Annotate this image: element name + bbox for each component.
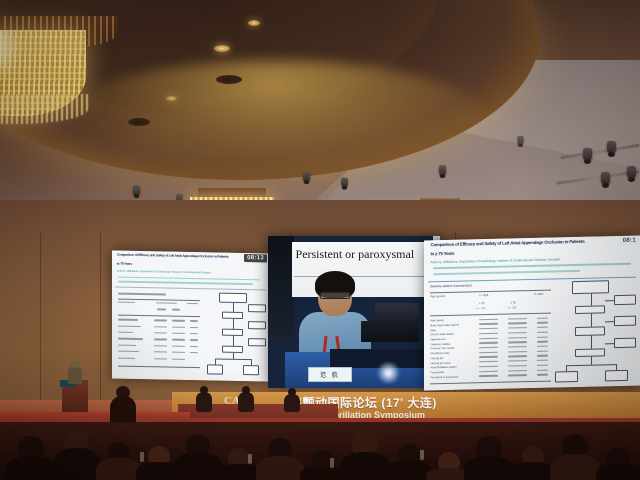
- slide-overlay-title: Persistent or paroxysmal: [296, 247, 440, 262]
- table-col-header: ≥ 75: [510, 301, 515, 305]
- audience-shoulders: [54, 448, 100, 480]
- table-row-label: HAS-BLED score: [430, 362, 450, 365]
- table-cell-value: [508, 374, 527, 376]
- downlight-icon: [214, 45, 230, 52]
- spotlight-icon: [303, 171, 310, 181]
- audience-shoulders: [340, 452, 390, 480]
- center-video-screen[interactable]: Persistent or paroxysmal 范 航: [268, 236, 440, 388]
- table-cell-value: [537, 341, 548, 343]
- wall-panel-seam: [40, 232, 41, 407]
- table-cell-value: [508, 351, 527, 353]
- water-bottle: [140, 452, 144, 462]
- table-cell-value: [537, 336, 548, 338]
- panelist-seated: [238, 392, 254, 412]
- table-col-header: < 75: [479, 301, 485, 305]
- table-cell-value: [479, 347, 498, 349]
- downlight-icon: [216, 75, 242, 84]
- moderator-figure: [68, 366, 82, 384]
- slide-canvas-left: Comparison of Efficacy and Safety of Lef…: [112, 250, 269, 381]
- panelist-seated: [196, 392, 212, 412]
- table-cell-value: [537, 374, 548, 376]
- table-row-label: Hypertension: [430, 338, 445, 341]
- table-cell-value: [537, 317, 548, 319]
- left-projection-screen[interactable]: Comparison of Efficacy and Safety of Lef…: [112, 250, 269, 381]
- wall-panel-seam: [100, 232, 101, 407]
- panelist-seated: [284, 394, 300, 412]
- table-row-label: Male: [430, 329, 436, 332]
- audience-area: [0, 422, 640, 480]
- speaker-nameplate: 范 航: [308, 367, 353, 382]
- table-cell-value: [508, 360, 527, 362]
- table-row-label: Age (years): [430, 319, 443, 322]
- screen-clock: 08:1: [620, 237, 639, 245]
- table-row-label: Chronic heart failure: [430, 333, 453, 337]
- audience-shoulders: [596, 464, 640, 480]
- table-row-label: Body mass index (kg/m²): [430, 324, 459, 328]
- table-cell-value: [479, 370, 498, 372]
- spotlight-icon: [133, 185, 140, 195]
- video-dark-region: [268, 236, 294, 342]
- water-bottle: [248, 454, 252, 464]
- table-cell-value: [479, 375, 498, 377]
- table-col-subheader: n = 706: [476, 307, 485, 310]
- table-cell-value: [508, 332, 527, 334]
- table-cell-value: [537, 350, 548, 352]
- spotlight-icon: [341, 178, 348, 188]
- chandelier-main: [0, 0, 118, 114]
- event-logo: [375, 361, 403, 385]
- table-cell-value: [537, 331, 548, 333]
- table-cell-value: [479, 337, 498, 339]
- table-cell-value: [537, 369, 548, 371]
- table-cell-value: [537, 327, 548, 329]
- table-cell-value: [537, 360, 548, 362]
- spotlight-icon: [607, 141, 616, 154]
- table-cell-value: [537, 346, 548, 348]
- table-col-header: n = 929: [479, 293, 488, 297]
- table-cell-value: [479, 342, 498, 344]
- spotlight-icon: [439, 165, 446, 175]
- water-bottle: [420, 450, 424, 460]
- table-cell-value: [479, 333, 498, 335]
- downlight-icon: [166, 96, 177, 101]
- screen-clock: 08:13: [244, 254, 267, 262]
- audience-shoulders: [550, 454, 600, 480]
- table-row-label: Atrial fibrillation pattern: [430, 366, 456, 370]
- table-cell-value: [537, 364, 548, 366]
- table-cell-value: [537, 322, 548, 324]
- table-row-label: HAS-BLED: [430, 357, 443, 360]
- table-cell-value: [508, 327, 527, 329]
- slide-author-line: [433, 270, 580, 275]
- spotlight-icon: [517, 136, 523, 145]
- table-col-header: Age (years): [430, 294, 444, 298]
- table-row-label: Previous TIA / stroke: [430, 347, 454, 351]
- table-cell-value: [508, 346, 527, 348]
- table-cell-value: [479, 318, 498, 320]
- downlight-icon: [128, 118, 150, 126]
- glasses-icon: [320, 292, 350, 299]
- slide-table: [118, 293, 200, 374]
- table-cell-value: [508, 370, 527, 372]
- laptop: [361, 321, 419, 342]
- slide-title: Comparison of Efficacy and Safety of Lef…: [117, 253, 265, 260]
- table-cell-value: [508, 322, 527, 324]
- slide-subtitle: to 75 Years: [117, 262, 265, 269]
- slide-table: Baseline patient characteristics Age (ye…: [430, 284, 551, 386]
- table-caption: Baseline patient characteristics: [430, 283, 471, 288]
- table-row-label: Paroxysmal: [430, 371, 444, 374]
- table-col-header: P value: [534, 292, 543, 296]
- table-row-label: Diabetes mellitus: [430, 343, 450, 346]
- table-cell-value: [479, 356, 498, 358]
- table-col-subheader: n = 223: [508, 307, 517, 310]
- slide-flowchart: [558, 279, 636, 383]
- audience-shoulders: [6, 456, 58, 480]
- audience-shoulders: [256, 456, 304, 480]
- slide-author-line: [118, 281, 253, 285]
- table-row-label: CHA2DS2-VASc: [430, 352, 449, 355]
- conference-hall-photo: Comparison of Efficacy and Safety of Lef…: [0, 0, 640, 480]
- slide-authors: Authors, Affiliations, Department of Car…: [117, 270, 265, 276]
- slide-flowchart: [206, 292, 266, 378]
- cove-light-glow: [60, 60, 490, 180]
- slide-canvas-right: Comparison of Efficacy and Safety of Lef…: [424, 236, 640, 391]
- table-cell-value: [479, 366, 498, 368]
- live-video-feed: Persistent or paroxysmal 范 航: [268, 236, 440, 388]
- table-cell-value: [479, 323, 498, 325]
- table-cell-value: [479, 351, 498, 353]
- table-cell-value: [508, 341, 527, 343]
- table-row-label: Persistent or permanent: [430, 376, 458, 380]
- spotlight-icon: [627, 166, 636, 179]
- table-cell-value: [508, 318, 527, 320]
- audience-shoulders: [464, 456, 514, 480]
- water-bottle: [330, 458, 334, 468]
- table-cell-value: [508, 365, 527, 367]
- right-projection-screen[interactable]: Comparison of Efficacy and Safety of Lef…: [424, 236, 640, 391]
- table-cell-value: [508, 356, 527, 358]
- table-cell-value: [479, 361, 498, 363]
- downlight-icon: [248, 20, 260, 26]
- spotlight-icon: [601, 172, 610, 185]
- slide-author-line: [118, 276, 259, 280]
- table-cell-value: [479, 328, 498, 330]
- slide-title: Comparison of Efficacy and Safety of Lef…: [430, 238, 633, 248]
- slide-divider: [115, 286, 266, 290]
- audience-shoulders: [174, 452, 222, 480]
- table-cell-value: [508, 337, 527, 339]
- standing-attendee-body: [110, 396, 136, 422]
- spotlight-icon: [583, 148, 592, 161]
- slide-author-line: [433, 263, 632, 270]
- table-cell-value: [537, 355, 548, 357]
